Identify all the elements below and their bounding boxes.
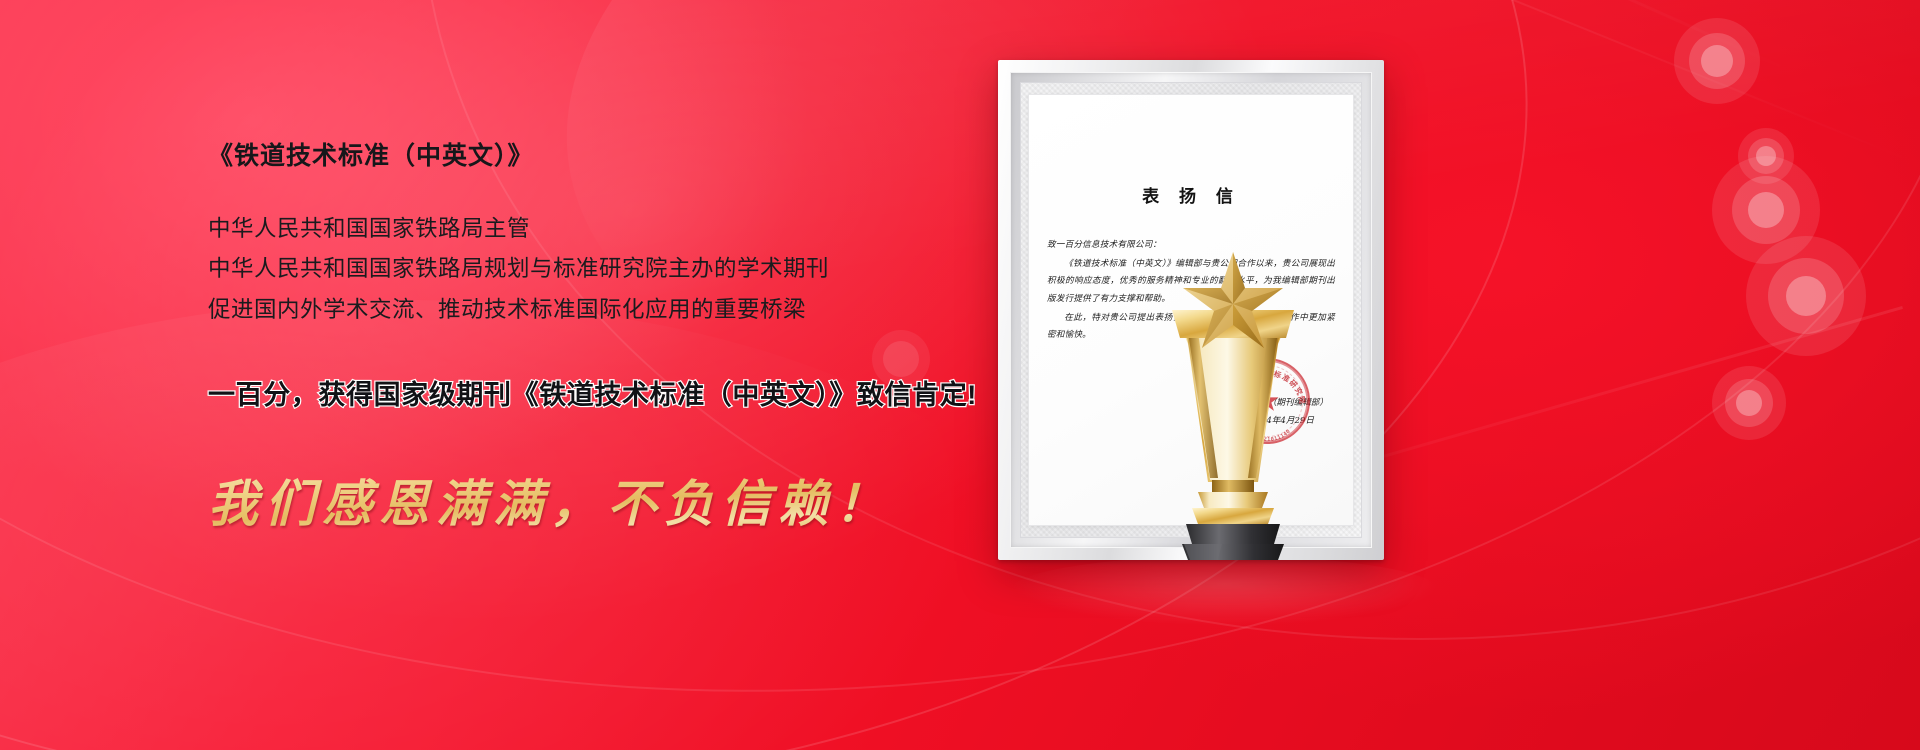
gold-star-trophy	[1128, 252, 1338, 564]
bokeh-circle	[1674, 18, 1760, 104]
certificate-title: 表 扬 信	[1028, 182, 1354, 207]
info-line: 促进国内外学术交流、推动技术标准国际化应用的重要桥梁	[208, 290, 968, 331]
bokeh-circle	[1738, 128, 1794, 184]
gratitude-calligraphy: 我们感恩满满，不负信赖！	[208, 464, 968, 536]
info-line: 中华人民共和国国家铁路局主管	[208, 209, 968, 250]
info-line: 中华人民共和国国家铁路局规划与标准研究院主办的学术期刊	[208, 249, 968, 290]
award-headline: 一百分，获得国家级期刊《铁道技术标准（中英文）》致信肯定!	[208, 373, 968, 412]
bokeh-circle	[1712, 366, 1786, 440]
journal-title: 《铁道技术标准（中英文）》	[208, 140, 968, 173]
award-banner: 《铁道技术标准（中英文）》 中华人民共和国国家铁路局主管 中华人民共和国国家铁路…	[0, 0, 1920, 750]
banner-text-block: 《铁道技术标准（中英文）》 中华人民共和国国家铁路局主管 中华人民共和国国家铁路…	[208, 140, 968, 536]
journal-info-list: 中华人民共和国国家铁路局主管 中华人民共和国国家铁路局规划与标准研究院主办的学术…	[208, 209, 968, 332]
floor-glow	[1010, 556, 1440, 626]
bokeh-circle	[1712, 156, 1820, 264]
bokeh-circle	[1746, 236, 1866, 356]
